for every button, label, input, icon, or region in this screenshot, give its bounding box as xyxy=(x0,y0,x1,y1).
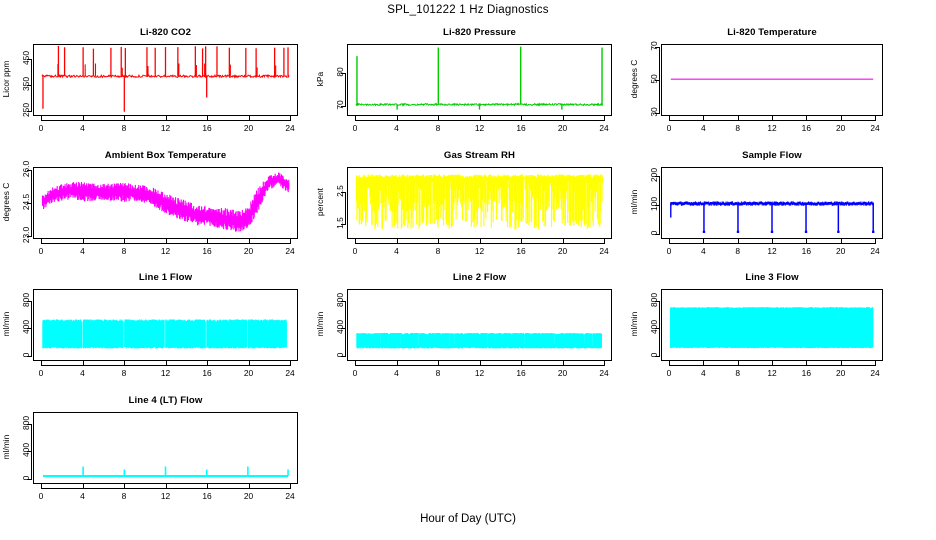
y-axis-tick-label: 400 xyxy=(21,314,31,340)
x-axis-tick-label: 24 xyxy=(590,368,618,378)
panel-gas-stream-rh: Gas Stream RH048121620241.52.5percent xyxy=(314,150,612,264)
plot-area xyxy=(347,167,612,239)
y-axis-line xyxy=(345,301,346,355)
x-axis-tick-label: 4 xyxy=(69,246,97,256)
x-axis-tick-label: 20 xyxy=(827,368,855,378)
x-axis-line xyxy=(41,365,290,366)
x-axis-tick xyxy=(875,361,876,366)
y-axis-tick-label: 400 xyxy=(335,314,345,340)
data-series xyxy=(348,290,611,360)
x-axis-line xyxy=(41,488,290,489)
x-axis-tick-label: 4 xyxy=(383,246,411,256)
panel-title: Line 1 Flow xyxy=(33,272,298,283)
y-axis-tick-label: 0 xyxy=(335,342,345,368)
y-axis-label: ml/min xyxy=(315,294,325,354)
y-axis-tick-label: 26.0 xyxy=(21,156,31,182)
y-axis-tick-label: 450 xyxy=(21,45,31,71)
x-axis-tick-label: 8 xyxy=(110,491,138,501)
x-axis-tick-label: 24 xyxy=(861,123,889,133)
y-axis-tick-label: 1.5 xyxy=(335,210,345,236)
x-axis-tick-label: 16 xyxy=(507,246,535,256)
x-axis-tick-label: 8 xyxy=(724,123,752,133)
x-axis-tick-label: 20 xyxy=(549,123,577,133)
x-axis-tick-label: 20 xyxy=(235,123,263,133)
plot-area xyxy=(33,412,298,484)
x-axis-tick-label: 4 xyxy=(383,368,411,378)
panel-line-2-flow: Line 2 Flow048121620240400800ml/min xyxy=(314,272,612,386)
x-axis-tick-label: 12 xyxy=(758,368,786,378)
y-axis-tick-label: 350 xyxy=(21,71,31,97)
x-axis-tick-label: 12 xyxy=(152,123,180,133)
x-axis-tick xyxy=(875,116,876,121)
x-axis-tick-label: 20 xyxy=(549,246,577,256)
y-axis-tick-label: 800 xyxy=(21,287,31,313)
data-series xyxy=(34,168,297,238)
y-axis-tick-label: 0 xyxy=(649,220,659,246)
plot-area xyxy=(33,289,298,361)
plot-area xyxy=(347,289,612,361)
x-axis-tick xyxy=(290,239,291,244)
plot-area xyxy=(33,167,298,239)
x-axis-tick-label: 16 xyxy=(193,491,221,501)
x-axis-tick-label: 8 xyxy=(724,246,752,256)
panel-li-820-co2: Li-820 CO204812162024250350450Licor ppm xyxy=(0,27,298,141)
y-axis-tick-label: 250 xyxy=(21,97,31,123)
panel-title: Line 3 Flow xyxy=(661,272,883,283)
x-axis-tick-label: 12 xyxy=(466,246,494,256)
x-axis-tick-label: 16 xyxy=(792,123,820,133)
x-axis-tick-label: 16 xyxy=(193,368,221,378)
y-axis-label: percent xyxy=(315,172,325,232)
x-axis-tick-label: 0 xyxy=(27,246,55,256)
panel-title: Li-820 Pressure xyxy=(347,27,612,38)
data-series xyxy=(348,168,611,238)
y-axis-line xyxy=(31,170,32,235)
panel-line-1-flow: Line 1 Flow048121620240400800ml/min xyxy=(0,272,298,386)
x-axis-tick-label: 8 xyxy=(424,368,452,378)
panel-title: Sample Flow xyxy=(661,150,883,161)
x-axis-tick-label: 0 xyxy=(655,368,683,378)
x-axis-tick-label: 12 xyxy=(758,123,786,133)
x-axis-tick-label: 12 xyxy=(152,246,180,256)
x-axis-tick-label: 24 xyxy=(276,123,304,133)
x-axis-tick-label: 0 xyxy=(27,123,55,133)
y-axis-line xyxy=(345,192,346,225)
y-axis-line xyxy=(659,301,660,355)
x-axis-tick xyxy=(604,116,605,121)
y-axis-label: ml/min xyxy=(1,417,11,477)
x-axis-tick-label: 24 xyxy=(861,368,889,378)
panel-sample-flow: Sample Flow048121620240100200ml/min xyxy=(628,150,883,264)
x-axis-tick-label: 8 xyxy=(110,123,138,133)
x-axis-tick-label: 16 xyxy=(507,368,535,378)
x-axis-tick-label: 20 xyxy=(235,246,263,256)
x-axis-tick-label: 0 xyxy=(341,246,369,256)
data-series xyxy=(34,290,297,360)
x-axis-tick-label: 8 xyxy=(424,246,452,256)
panel-li-820-pressure: Li-820 Pressure048121620247080kPa xyxy=(314,27,612,141)
y-axis-tick-label: 70 xyxy=(335,92,345,118)
x-axis-tick-label: 20 xyxy=(827,246,855,256)
x-axis-tick-label: 12 xyxy=(152,491,180,501)
y-axis-tick-label: 800 xyxy=(649,287,659,313)
x-axis-tick-label: 24 xyxy=(276,491,304,501)
data-series xyxy=(34,45,297,115)
y-axis-tick-label: 800 xyxy=(335,287,345,313)
y-axis-tick-label: 30 xyxy=(649,99,659,125)
x-axis-tick xyxy=(290,116,291,121)
y-axis-tick-label: 0 xyxy=(649,342,659,368)
panel-line-4-lt-flow: Line 4 (LT) Flow048121620240400800ml/min xyxy=(0,395,298,509)
x-axis-tick-label: 4 xyxy=(689,246,717,256)
x-axis-tick-label: 8 xyxy=(110,246,138,256)
x-axis-tick-label: 4 xyxy=(689,123,717,133)
panel-line-3-flow: Line 3 Flow048121620240400800ml/min xyxy=(628,272,883,386)
x-axis-line xyxy=(41,243,290,244)
y-axis-tick-label: 23.0 xyxy=(21,222,31,248)
x-axis-tick-label: 0 xyxy=(655,246,683,256)
x-axis-tick-label: 16 xyxy=(792,368,820,378)
y-axis-line xyxy=(31,301,32,355)
y-axis-tick-label: 400 xyxy=(649,314,659,340)
panel-title: Li-820 Temperature xyxy=(661,27,883,38)
panel-ambient-box-temperature: Ambient Box Temperature0481216202423.024… xyxy=(0,150,298,264)
panel-title: Gas Stream RH xyxy=(347,150,612,161)
x-axis-tick-label: 0 xyxy=(655,123,683,133)
y-axis-tick-label: 24.5 xyxy=(21,189,31,215)
x-axis-tick-label: 8 xyxy=(110,368,138,378)
data-series xyxy=(662,290,882,360)
y-axis-label: Licor ppm xyxy=(1,49,11,109)
x-axis-tick-label: 8 xyxy=(724,368,752,378)
y-axis-tick-label: 70 xyxy=(649,33,659,59)
panel-title: Line 2 Flow xyxy=(347,272,612,283)
y-axis-label: ml/min xyxy=(629,294,639,354)
x-axis-tick-label: 12 xyxy=(466,123,494,133)
figure-x-axis-label: Hour of Day (UTC) xyxy=(0,513,936,525)
y-axis-label: degrees C xyxy=(1,172,11,232)
x-axis-tick-label: 20 xyxy=(235,368,263,378)
x-axis-tick-label: 16 xyxy=(507,123,535,133)
x-axis-tick-label: 8 xyxy=(424,123,452,133)
y-axis-tick-label: 0 xyxy=(21,465,31,491)
y-axis-line xyxy=(345,73,346,106)
page-title: SPL_101222 1 Hz Diagnostics xyxy=(0,4,936,16)
x-axis-tick-label: 20 xyxy=(549,368,577,378)
x-axis-tick-label: 0 xyxy=(341,123,369,133)
x-axis-line xyxy=(669,365,875,366)
plot-area xyxy=(661,167,883,239)
data-series xyxy=(662,168,882,238)
y-axis-tick-label: 80 xyxy=(335,59,345,85)
y-axis-line xyxy=(659,176,660,234)
x-axis-tick-label: 0 xyxy=(27,368,55,378)
x-axis-tick-label: 24 xyxy=(276,368,304,378)
y-axis-label: degrees C xyxy=(629,49,639,109)
x-axis-tick-label: 4 xyxy=(69,491,97,501)
x-axis-tick xyxy=(604,239,605,244)
x-axis-line xyxy=(41,120,290,121)
x-axis-tick xyxy=(290,484,291,489)
y-axis-label: kPa xyxy=(315,49,325,109)
diagnostics-figure: SPL_101222 1 Hz Diagnostics Hour of Day … xyxy=(0,0,936,540)
x-axis-line xyxy=(355,243,604,244)
panel-title: Line 4 (LT) Flow xyxy=(33,395,298,406)
y-axis-line xyxy=(31,424,32,478)
x-axis-tick-label: 20 xyxy=(235,491,263,501)
x-axis-tick-label: 4 xyxy=(689,368,717,378)
x-axis-tick-label: 24 xyxy=(861,246,889,256)
x-axis-tick-label: 24 xyxy=(590,246,618,256)
y-axis-line xyxy=(659,47,660,112)
y-axis-tick-label: 0 xyxy=(21,342,31,368)
x-axis-tick-label: 4 xyxy=(383,123,411,133)
y-axis-line xyxy=(31,59,32,110)
x-axis-tick-label: 12 xyxy=(152,368,180,378)
x-axis-tick xyxy=(290,361,291,366)
x-axis-tick-label: 12 xyxy=(466,368,494,378)
x-axis-tick-label: 20 xyxy=(827,123,855,133)
y-axis-tick-label: 400 xyxy=(21,437,31,463)
x-axis-line xyxy=(669,243,875,244)
plot-area xyxy=(661,44,883,116)
y-axis-tick-label: 200 xyxy=(649,162,659,188)
data-series xyxy=(348,45,611,115)
data-series xyxy=(662,45,882,115)
plot-area xyxy=(347,44,612,116)
panel-li-820-temperature: Li-820 Temperature04812162024305070degre… xyxy=(628,27,883,141)
plot-area xyxy=(661,289,883,361)
x-axis-tick-label: 0 xyxy=(27,491,55,501)
x-axis-tick xyxy=(604,361,605,366)
y-axis-label: ml/min xyxy=(1,294,11,354)
x-axis-line xyxy=(355,120,604,121)
x-axis-tick-label: 0 xyxy=(341,368,369,378)
panel-title: Ambient Box Temperature xyxy=(33,150,298,161)
y-axis-tick-label: 50 xyxy=(649,66,659,92)
x-axis-line xyxy=(355,365,604,366)
data-series xyxy=(34,413,297,483)
y-axis-tick-label: 100 xyxy=(649,191,659,217)
y-axis-label: ml/min xyxy=(629,172,639,232)
x-axis-tick-label: 16 xyxy=(792,246,820,256)
x-axis-line xyxy=(669,120,875,121)
x-axis-tick-label: 4 xyxy=(69,123,97,133)
x-axis-tick-label: 16 xyxy=(193,246,221,256)
panel-title: Li-820 CO2 xyxy=(33,27,298,38)
x-axis-tick-label: 16 xyxy=(193,123,221,133)
x-axis-tick-label: 4 xyxy=(69,368,97,378)
x-axis-tick xyxy=(875,239,876,244)
y-axis-tick-label: 2.5 xyxy=(335,178,345,204)
x-axis-tick-label: 24 xyxy=(590,123,618,133)
x-axis-tick-label: 12 xyxy=(758,246,786,256)
plot-area xyxy=(33,44,298,116)
y-axis-tick-label: 800 xyxy=(21,410,31,436)
x-axis-tick-label: 24 xyxy=(276,246,304,256)
